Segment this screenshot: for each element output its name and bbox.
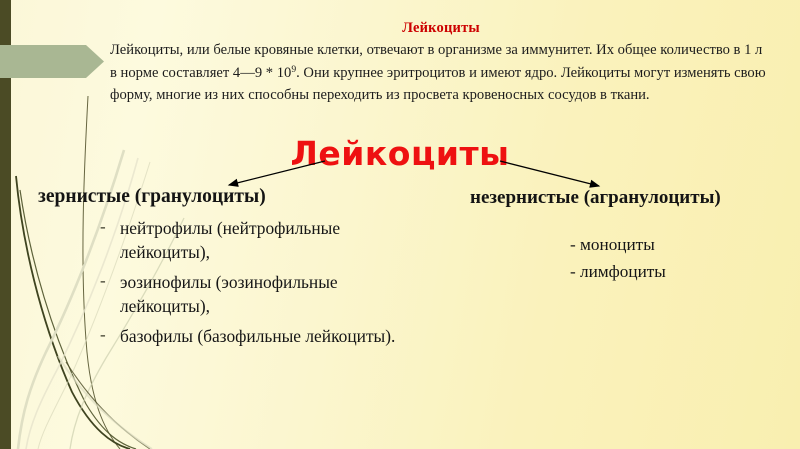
intro-body-line-1: Лейкоциты, или белые кровяные клетки, от… (110, 42, 657, 58)
intro-heading: Лейкоциты (110, 20, 772, 37)
granulocytes-list: - нейтрофилы (нейтрофильные лейкоциты), … (96, 216, 426, 354)
dash-bullet-icon: - (100, 269, 106, 293)
sage-arrow-banner (0, 45, 104, 78)
intro-body-line-4: кровеносных сосудов в ткани. (463, 87, 650, 103)
intro-text-block: Лейкоциты Лейкоциты, или белые кровяные … (110, 20, 772, 107)
list-item-label: нейтрофилы (нейтрофильные лейкоциты), (120, 218, 340, 262)
list-item-label: эозинофилы (эозинофильные лейкоциты), (120, 272, 338, 316)
agranulocytes-list: - моноциты - лимфоциты (570, 231, 666, 285)
intro-body-paragraph: Лейкоциты, или белые кровяные клетки, от… (110, 39, 772, 107)
slide-canvas: Лейкоциты Лейкоциты, или белые кровяные … (0, 0, 800, 449)
dash-bullet-icon: - (100, 323, 106, 347)
list-item: - моноциты (570, 231, 666, 258)
list-item: - лимфоциты (570, 258, 666, 285)
branch-right-heading: незернистые (агранулоциты) (470, 187, 721, 209)
main-title: Лейкоциты (0, 134, 800, 173)
intro-body-line-2-post: . Они крупнее эритроцитов и имеют ядро. (296, 65, 557, 81)
list-item: - эозинофилы (эозинофильные лейкоциты), (96, 270, 426, 318)
list-item: - базофилы (базофильные лейкоциты). (96, 324, 426, 348)
list-item: - нейтрофилы (нейтрофильные лейкоциты), (96, 216, 426, 264)
list-item-label: базофилы (базофильные лейкоциты). (120, 326, 395, 346)
dash-bullet-icon: - (100, 215, 106, 239)
branch-left-heading: зернистые (гранулоциты) (38, 186, 266, 208)
